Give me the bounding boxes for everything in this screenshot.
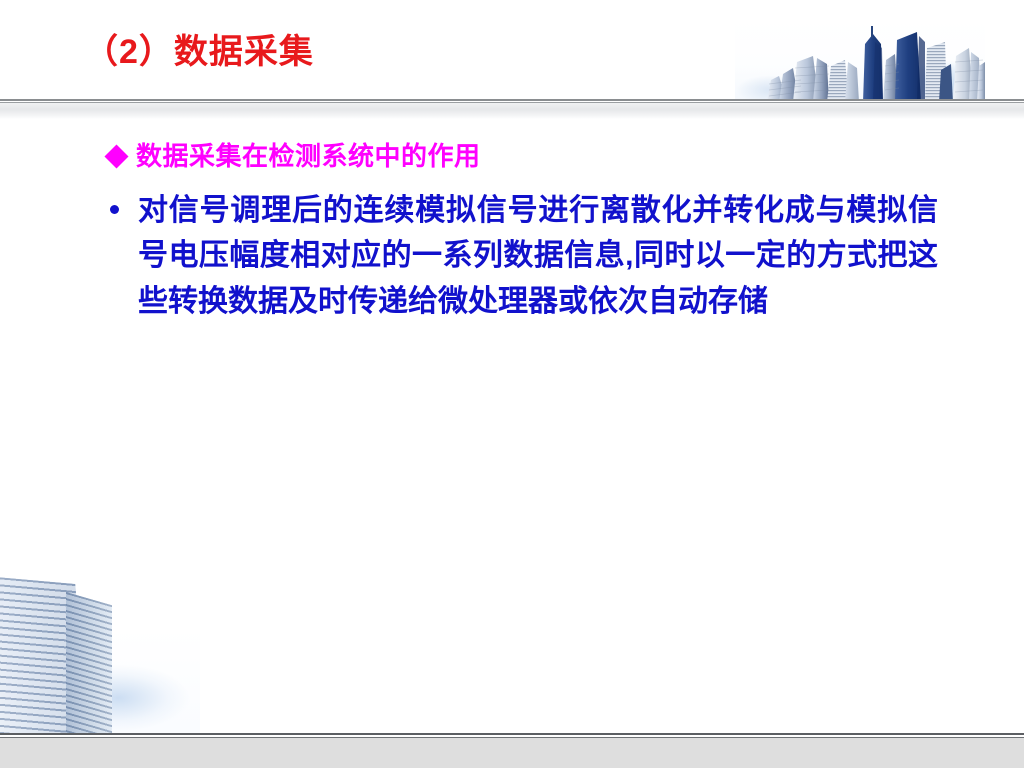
heading-bullet-row: 数据采集在检测系统中的作用	[108, 140, 1024, 174]
diamond-bullet-icon	[104, 144, 128, 168]
footer-band	[0, 733, 1024, 768]
skyscraper-photo	[0, 558, 200, 733]
dot-bullet-icon	[110, 205, 119, 214]
skyline-buildings-svg	[735, 18, 985, 102]
footer-fill	[0, 738, 1024, 768]
paragraph-text: 对信号调理后的连续模拟信号进行离散化并转化成与模拟信号电压幅度相对应的一系列数据…	[138, 188, 938, 325]
skyscraper-side-face	[66, 592, 112, 733]
heading-text: 数据采集在检测系统中的作用	[136, 140, 481, 174]
paragraph-bullet-row: 对信号调理后的连续模拟信号进行离散化并转化成与模拟信号电压幅度相对应的一系列数据…	[110, 188, 1024, 325]
header-divider	[0, 99, 1024, 119]
slide-root: （2）数据采集 数据采集在检测系统中的作用 对信号调理后的连续模拟信号进行离散化…	[0, 0, 1024, 768]
slide-body: 数据采集在检测系统中的作用 对信号调理后的连续模拟信号进行离散化并转化成与模拟信…	[0, 140, 1024, 325]
city-skyline-photo	[735, 18, 985, 102]
page-title: （2）数据采集	[84, 32, 314, 73]
divider-gradient-band	[0, 103, 1024, 119]
